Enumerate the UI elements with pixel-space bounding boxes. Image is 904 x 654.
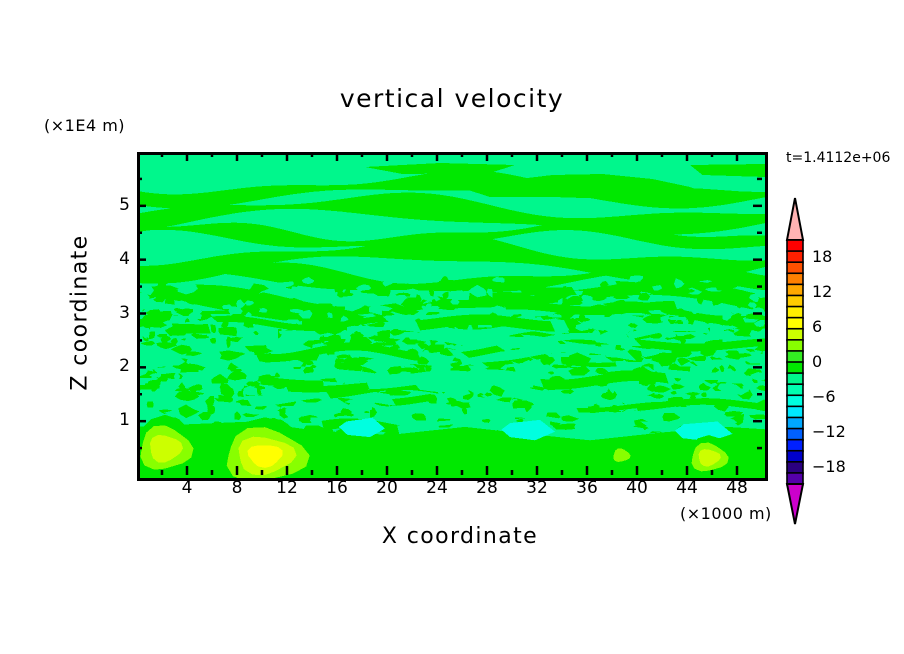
colorbar-band [787,351,803,363]
x-axis-title: X coordinate [260,524,660,549]
y-axis-title: Z coordinate [68,213,93,413]
contour-region [751,394,765,399]
contour-region [662,413,671,421]
colorbar-band [787,251,803,263]
colorbar-tick-label: 6 [812,317,822,336]
figure-canvas: vertical velocity (×1E4 m) t=1.4112e+06 … [0,0,904,654]
contour-region [172,323,211,333]
x-tick-label: 24 [417,478,457,498]
page-title: vertical velocity [0,84,904,113]
contour-region [147,401,154,407]
contour-plot-area [137,152,768,481]
colorbar-band [787,440,803,452]
timestamp-annotation: t=1.4112e+06 [786,150,890,166]
x-tick-label: 40 [617,478,657,498]
colorbar-band [787,329,803,341]
colorbar-tick-label: −18 [812,457,846,476]
colorbar-band [787,384,803,396]
x-tick-label: 20 [367,478,407,498]
colorbar-band [787,284,803,296]
colorbar-band [787,406,803,418]
colorbar-band [787,318,803,330]
colorbar-band [787,429,803,441]
x-tick-label: 44 [667,478,707,498]
colorbar-band [787,373,803,385]
colorbar-over-cap [787,198,803,240]
colorbar-tick-label: 12 [812,282,832,301]
colorbar-band [787,451,803,463]
x-axis-unit-label: (×1000 m) [680,504,772,523]
colorbar-band [787,273,803,285]
colorbar-tick-label: 18 [812,247,832,266]
colorbar-under-cap [787,484,803,524]
x-tick-label: 32 [517,478,557,498]
colorbar-band [787,240,803,252]
y-axis-unit-label: (×1E4 m) [44,116,125,135]
y-tick-label: 1 [100,410,130,430]
x-tick-label: 12 [267,478,307,498]
y-tick-label: 2 [100,356,130,376]
velocity-field [140,155,765,478]
colorbar-band [787,462,803,474]
colorbar-band [787,262,803,274]
contour-region [237,391,244,397]
colorbar-band [787,362,803,374]
x-tick-label: 28 [467,478,507,498]
x-tick-label: 48 [717,478,757,498]
colorbar-tick-label: −12 [812,422,846,441]
colorbar-band [787,307,803,319]
x-tick-label: 16 [317,478,357,498]
colorbar-band [787,295,803,307]
contour-region [752,276,765,286]
colorbar [778,196,812,526]
colorbar-band [787,340,803,352]
contour-region [668,317,687,320]
y-tick-label: 4 [100,249,130,269]
contour-region [222,305,232,309]
colorbar-band [787,417,803,429]
colorbar-band [787,395,803,407]
colorbar-band [787,473,803,485]
x-tick-label: 8 [217,478,257,498]
y-tick-label: 5 [100,195,130,215]
y-tick-label: 3 [100,303,130,323]
colorbar-tick-label: 0 [812,352,822,371]
colorbar-tick-label: −6 [812,387,836,406]
x-tick-label: 36 [567,478,607,498]
x-tick-label: 4 [167,478,207,498]
